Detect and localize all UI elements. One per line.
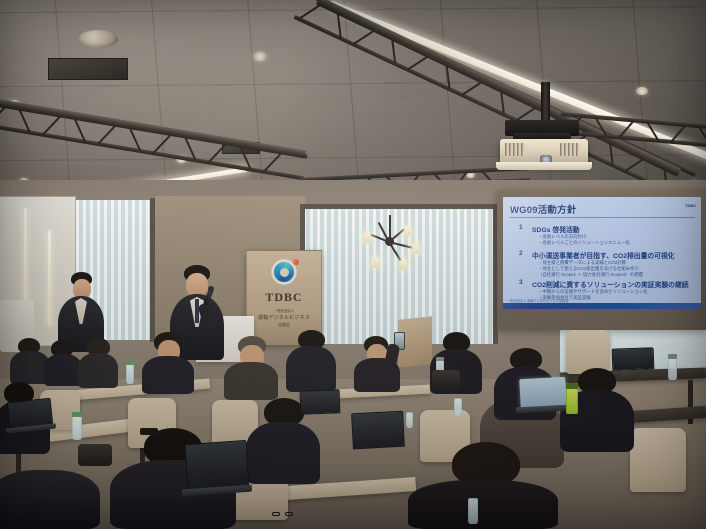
ceiling-vent-icon — [48, 58, 128, 80]
audience-member-with-phone — [352, 330, 406, 392]
vertical-accent-light — [48, 230, 51, 326]
water-bottle[interactable] — [406, 412, 413, 428]
laptop[interactable] — [612, 347, 655, 370]
bullet-sub: ・会員レベルごとのソリューションメニュー化 — [538, 240, 630, 246]
slide-footer-note: 一般社団法人 運輸デジタルビジネス協議会 — [507, 298, 568, 303]
laptop[interactable] — [184, 440, 249, 492]
chandelier-bulb — [412, 243, 419, 254]
laptop[interactable] — [351, 411, 405, 450]
downlight-icon — [253, 52, 267, 61]
audience-member-foreground — [408, 442, 558, 529]
projector-vent-icon — [505, 143, 525, 156]
audience-member — [78, 338, 118, 388]
chair — [630, 428, 686, 492]
audience-member — [44, 340, 82, 386]
chandelier-bulb — [372, 257, 379, 268]
bullet-heading: 中小運送事業者が目指す、CO2排出量の可視化 — [532, 250, 675, 260]
audience-torso — [142, 356, 194, 394]
ceiling-speaker-icon — [78, 30, 118, 48]
slide-footer-bar — [503, 303, 701, 309]
bullet-sub: （自社運行 Scope1 ＋ 協力会社運行 Scope3）の把握 — [538, 272, 643, 278]
audience-torso — [224, 362, 278, 400]
laptop-bag[interactable] — [432, 370, 460, 388]
projector-mount-pole — [541, 82, 550, 124]
chandelier-stem — [389, 215, 391, 238]
projector-base — [496, 162, 592, 170]
water-bottle[interactable] — [126, 364, 134, 384]
slide-title: WG09活動方針 — [510, 202, 577, 216]
tdbc-red-dot-icon — [293, 259, 299, 265]
chandelier-bulb — [364, 232, 371, 243]
audience-member — [142, 332, 194, 394]
bullet-heading: CO2削減に資するソリューションの実証実験の継続 — [532, 279, 689, 289]
bottle-cap — [436, 357, 444, 361]
chandelier-bulb — [404, 226, 411, 237]
audience-member-foreground — [0, 470, 100, 529]
audience-torso — [286, 346, 336, 392]
water-bottle[interactable] — [72, 416, 82, 440]
chandelier-bulb — [400, 259, 407, 270]
water-bottle[interactable] — [668, 358, 677, 380]
glasses-lens — [272, 512, 280, 516]
bullet-number: 1 — [519, 224, 523, 231]
downlight-icon — [636, 87, 648, 95]
podium-org-type: 一般社団法人 — [247, 308, 321, 313]
green-tea-bottle[interactable] — [566, 388, 578, 414]
slide-brand-logo: TDBC — [684, 201, 696, 209]
computer-mouse-icon[interactable] — [140, 428, 158, 435]
bottle-cap — [126, 361, 134, 365]
slide-logo-text: TDBC — [685, 203, 696, 208]
bottle-cap — [668, 354, 677, 359]
water-bottle[interactable] — [468, 498, 478, 524]
audience-torso — [78, 353, 118, 388]
microphone-head-icon — [208, 286, 214, 292]
bullet-heading: SDGs 啓発活動 — [532, 224, 580, 234]
projected-slide: WG09活動方針 TDBC 1 SDGs 啓発活動 ・会員レベルの方向付け ・会… — [503, 197, 701, 309]
bullet-number: 2 — [519, 250, 523, 257]
laptop[interactable] — [300, 389, 341, 414]
bottle-cap — [72, 412, 82, 417]
projector-vent-icon — [560, 143, 580, 156]
eyeglasses[interactable] — [272, 512, 294, 516]
podium-org-name: 運輸デジタルビジネス — [247, 314, 321, 321]
audience-torso — [408, 480, 558, 529]
laptop-bag[interactable] — [78, 444, 112, 466]
slide-title-underline — [509, 217, 695, 218]
audience-torso — [0, 470, 100, 529]
podium-org-suffix: 協議会 — [247, 322, 321, 328]
bottle-cap — [566, 384, 578, 389]
audience-arm — [384, 343, 401, 369]
window-frame-top — [300, 204, 498, 209]
audience-member — [286, 330, 336, 392]
bullet-number: 3 — [519, 279, 523, 286]
glasses-lens — [285, 512, 293, 516]
water-bottle[interactable] — [454, 398, 462, 416]
photo-scene: WG09活動方針 TDBC 1 SDGs 啓発活動 ・会員レベルの方向付け ・会… — [0, 0, 706, 529]
podium-org-abbr: TDBC — [247, 290, 321, 305]
audience-member — [224, 336, 278, 400]
audience-torso — [246, 422, 320, 484]
